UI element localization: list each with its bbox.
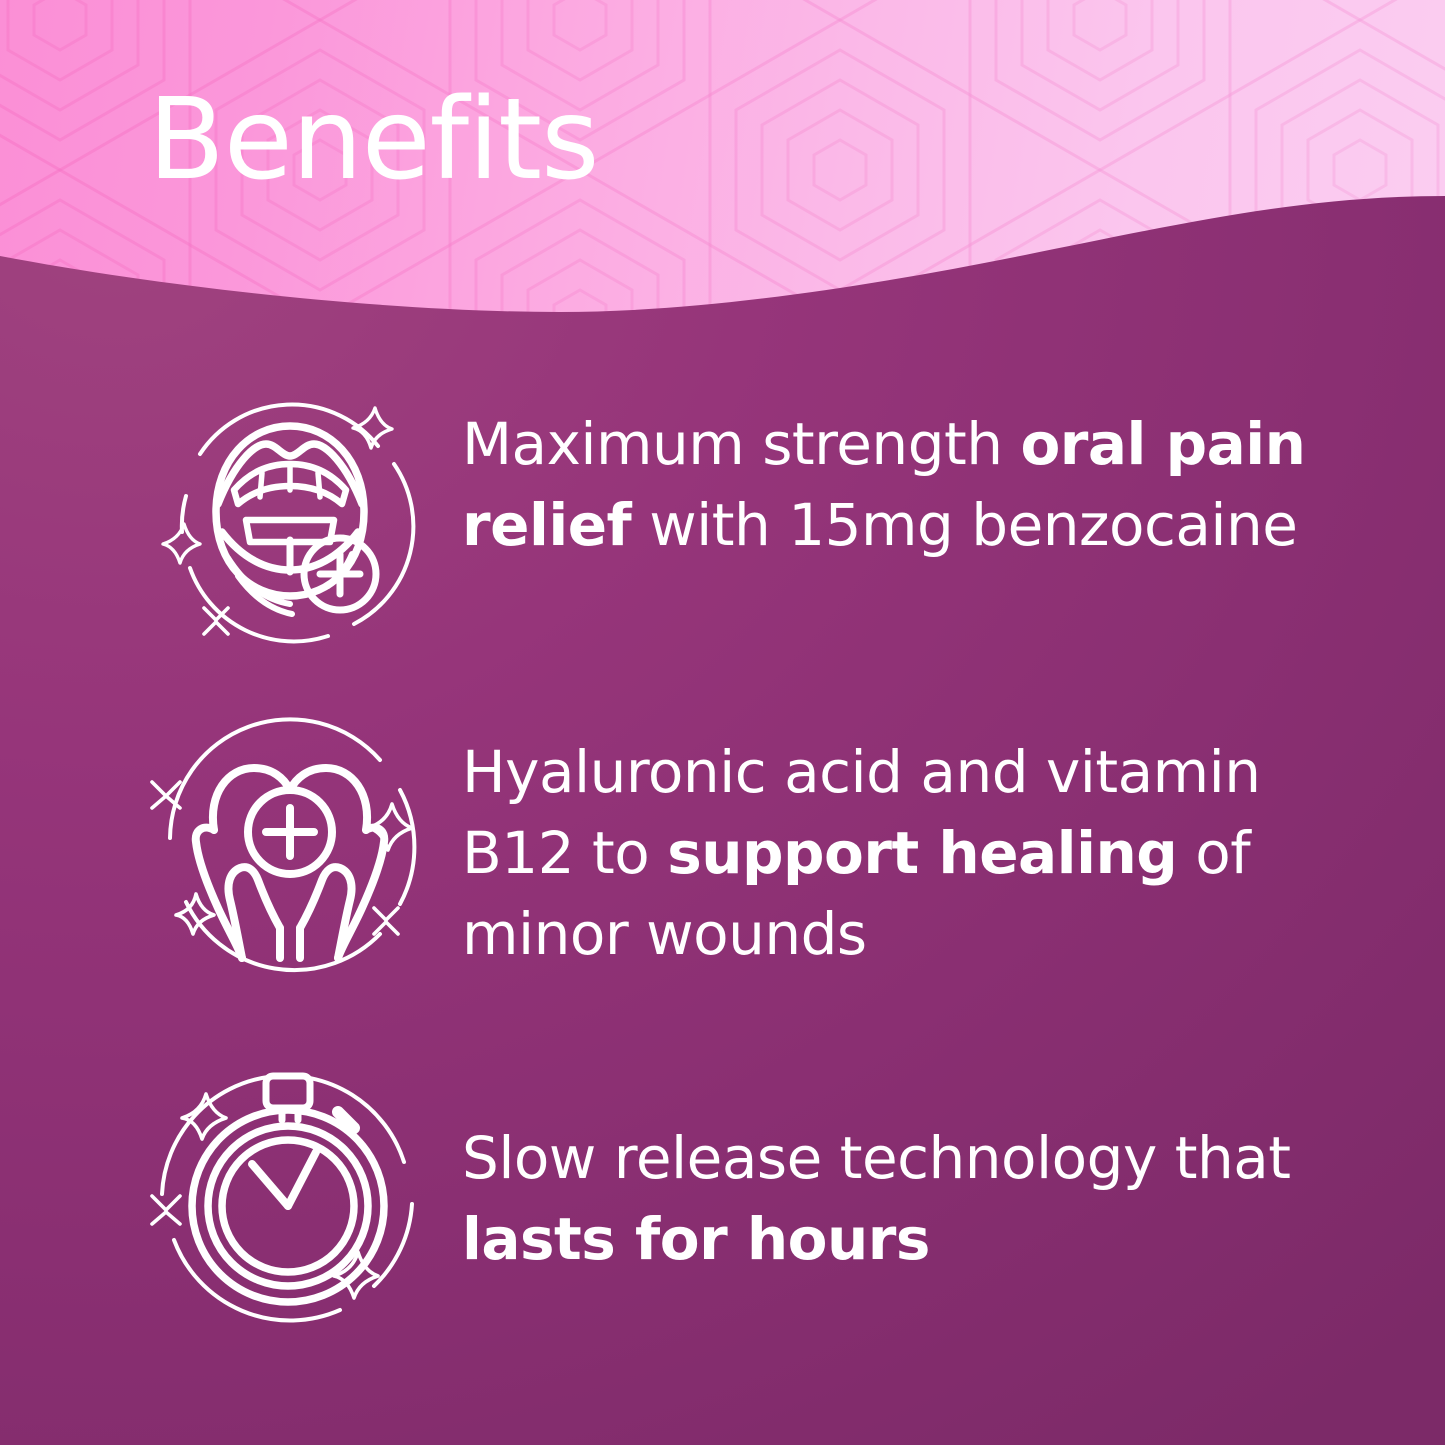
stopwatch-icon	[142, 1054, 438, 1350]
benefit-item-slow-release: Slow release technology that lasts for h…	[0, 1054, 1445, 1350]
open-mouth-plus-icon	[142, 372, 438, 668]
benefit-text-slow-release: Slow release technology that lasts for h…	[438, 1054, 1445, 1280]
benefit-3-part-0: Slow release technology that	[462, 1124, 1291, 1192]
benefit-3-part-1: lasts for hours	[462, 1205, 930, 1273]
benefit-text-support-healing: Hyaluronic acid and vitamin B12 to suppo…	[438, 708, 1445, 976]
benefits-graphic: Benefits	[0, 0, 1445, 1445]
benefits-list: Maximum strength oral pain relief with 1…	[0, 372, 1445, 1350]
benefit-item-oral-pain-relief: Maximum strength oral pain relief with 1…	[0, 372, 1445, 668]
benefit-1-part-2: with 15mg benzocaine	[631, 491, 1297, 559]
hands-heart-plus-icon	[142, 708, 438, 1004]
benefit-2-part-1: support healing	[667, 819, 1177, 887]
benefit-item-support-healing: Hyaluronic acid and vitamin B12 to suppo…	[0, 708, 1445, 1004]
benefit-1-part-0: Maximum strength	[462, 410, 1020, 478]
benefit-text-oral-pain-relief: Maximum strength oral pain relief with 1…	[438, 372, 1445, 566]
page-title: Benefits	[148, 84, 598, 196]
